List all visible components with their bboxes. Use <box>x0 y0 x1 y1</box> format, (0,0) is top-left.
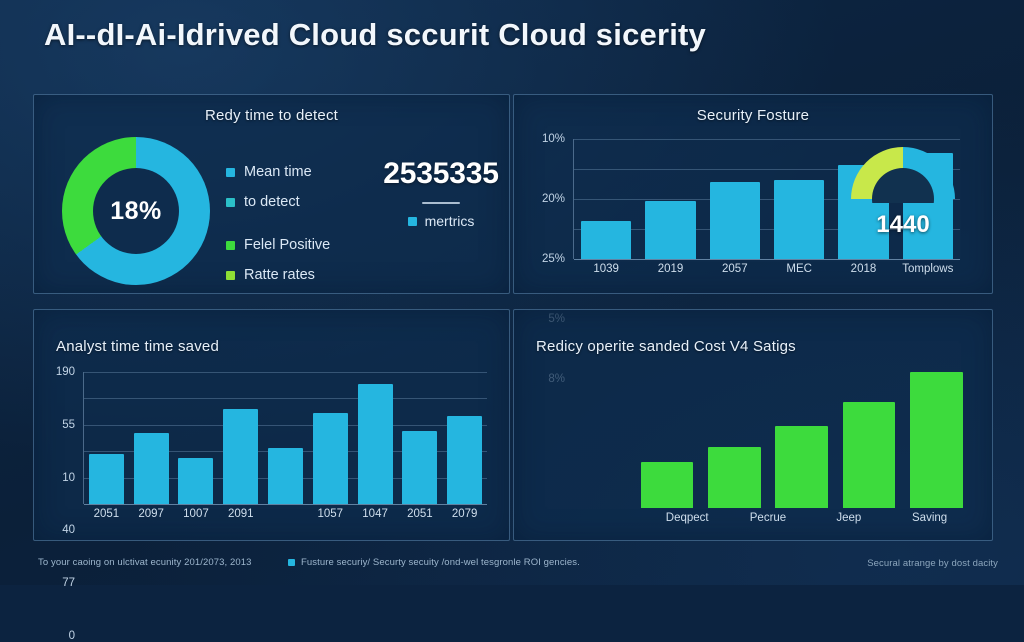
bar[interactable] <box>313 413 348 504</box>
x-tick-label: Jeep <box>808 512 889 524</box>
bar[interactable] <box>178 458 213 504</box>
bar[interactable] <box>268 448 303 504</box>
bar-series <box>566 372 970 508</box>
bar-slot <box>263 372 308 504</box>
x-tick-label: 2018 <box>831 263 895 275</box>
footer: To your caoing on ulctivat ecunity 201/2… <box>0 557 1024 573</box>
x-tick-label: Tomplows <box>896 263 960 275</box>
donut-center-value: 18% <box>110 197 162 226</box>
x-axis-ticks: DeqpectPecrueJeepSaving <box>566 512 970 524</box>
panel-title-analyst: Analyst time time saved <box>56 338 219 355</box>
panel-title-mttd: Redy time to detect <box>34 107 509 124</box>
bar-slot <box>767 139 831 259</box>
bar-slot <box>638 139 702 259</box>
footnote-left: To your caoing on ulctivat ecunity 201/2… <box>38 557 252 568</box>
legend-swatch-icon <box>226 271 235 280</box>
bar-slot <box>633 372 700 508</box>
x-axis-ticks: 20512097100720911057104720512079 <box>84 508 487 520</box>
legend-item[interactable]: Ratte rates <box>226 260 366 290</box>
bar-slot <box>218 372 263 504</box>
bar-series <box>84 372 487 504</box>
gridline: 0 <box>84 504 487 505</box>
bar-slot <box>174 372 219 504</box>
legend-item[interactable]: Mean time <box>226 157 366 187</box>
x-tick-label: 2079 <box>442 508 487 520</box>
x-tick-label: 1057 <box>308 508 353 520</box>
y-tick-label: 10 <box>62 472 75 484</box>
bar-chart-security-posture[interactable]: 10%20%25%5%8% <box>574 139 960 259</box>
bar[interactable] <box>910 372 963 508</box>
bar-slot <box>768 372 835 508</box>
bar-slot <box>701 372 768 508</box>
bar[interactable] <box>358 384 393 504</box>
y-tick-label: 40 <box>62 524 75 536</box>
legend-item-label: Mean time <box>244 164 312 180</box>
legend-spacer <box>226 217 366 230</box>
panel-title-posture: Security Fosture <box>514 107 992 124</box>
bar[interactable] <box>843 402 896 508</box>
bar-slot <box>574 139 638 259</box>
legend-item[interactable]: Felel Positive <box>226 230 366 260</box>
bar-chart-analyst-time-saved[interactable]: 190551040770 <box>84 372 487 504</box>
x-tick-label <box>263 508 308 520</box>
metric-caption-row: mertrics <box>376 213 506 229</box>
bar[interactable] <box>645 201 695 259</box>
bar-slot <box>896 139 960 259</box>
y-tick-label: 10% <box>542 133 565 145</box>
bar-slot <box>84 372 129 504</box>
legend-item-label: Felel Positive <box>244 237 330 253</box>
bar-slot <box>442 372 487 504</box>
panel-cost-savings: Redicy operite sanded Cost V4 Satigs Deq… <box>513 309 993 541</box>
legend-item[interactable]: to detect <box>226 187 366 217</box>
legend-swatch-icon <box>226 241 235 250</box>
dashboard-root: AI--dI-Ai-Idrived Cloud sccurit Cloud si… <box>0 0 1024 585</box>
x-tick-label: Saving <box>889 512 970 524</box>
x-tick-label: 2051 <box>84 508 129 520</box>
x-tick-label: 2057 <box>703 263 767 275</box>
legend-swatch-icon <box>226 198 235 207</box>
bar-slot <box>903 372 970 508</box>
y-tick-label: 0 <box>69 630 75 642</box>
x-tick-label: 2097 <box>129 508 174 520</box>
bar[interactable] <box>641 462 694 508</box>
panel-security-posture: Security Fosture 10%20%25%5%8% 103920192… <box>513 94 993 294</box>
metric-divider <box>422 202 460 204</box>
panel-analyst-time-saved: Analyst time time saved 190551040770 205… <box>33 309 510 541</box>
x-tick-label: 2091 <box>218 508 263 520</box>
gridline: 8% <box>574 259 960 260</box>
bar-slot <box>703 139 767 259</box>
y-tick-label: 20% <box>542 193 565 205</box>
page-title: AI--dI-Ai-Idrived Cloud sccurit Cloud si… <box>44 17 706 53</box>
bar[interactable] <box>775 426 828 508</box>
metric-swatch-icon <box>408 217 417 226</box>
legend-item-label: Ratte rates <box>244 267 315 283</box>
footnote-middle: Fusture securiy/ Securty secuity /ond-we… <box>288 557 580 568</box>
footnote-middle-label: Fusture securiy/ Securty secuity /ond-we… <box>301 557 580 568</box>
bar-series <box>574 139 960 259</box>
x-tick-label: 2051 <box>397 508 442 520</box>
panel-title-cost: Redicy operite sanded Cost V4 Satigs <box>536 338 796 355</box>
panel-mean-time-to-detect: Redy time to detect 18% Mean time to det… <box>33 94 510 294</box>
bar[interactable] <box>89 454 124 504</box>
metric-caption: mertrics <box>425 213 475 229</box>
donut-chart-mttd[interactable]: 18% <box>62 137 210 285</box>
footnote-swatch-icon <box>288 559 295 566</box>
bar[interactable] <box>402 431 437 504</box>
bar[interactable] <box>903 153 953 259</box>
bar-slot <box>353 372 398 504</box>
bar-slot <box>835 372 902 508</box>
x-tick-label: Pecrue <box>728 512 809 524</box>
donut-center: 18% <box>93 168 179 254</box>
metric-block-mttd: 2535335 mertrics <box>376 157 506 229</box>
y-tick-label: 25% <box>542 253 565 265</box>
bar[interactable] <box>134 433 169 504</box>
bar-slot <box>831 139 895 259</box>
legend-mttd: Mean time to detect Felel Positive Ratte… <box>226 157 366 290</box>
x-tick-label: MEC <box>767 263 831 275</box>
legend-item-label: to detect <box>244 194 300 210</box>
metric-value: 2535335 <box>376 157 506 191</box>
footnote-right: Secural atrange by dost dacity <box>867 558 998 569</box>
bar[interactable] <box>447 416 482 504</box>
bar[interactable] <box>710 182 760 259</box>
gauge-value: 1440 <box>851 211 955 239</box>
bar[interactable] <box>581 221 631 259</box>
x-tick-label: 1047 <box>353 508 398 520</box>
x-tick-label: 2019 <box>638 263 702 275</box>
y-tick-label: 55 <box>62 419 75 431</box>
bar[interactable] <box>708 447 761 508</box>
bar[interactable] <box>223 409 258 504</box>
y-tick-label: 190 <box>56 366 75 378</box>
x-tick-label: 1039 <box>574 263 638 275</box>
legend-swatch-icon <box>226 168 235 177</box>
bar[interactable] <box>774 180 824 259</box>
bar-slot <box>308 372 353 504</box>
bar-slot <box>397 372 442 504</box>
bar-slot <box>129 372 174 504</box>
x-tick-label: Deqpect <box>647 512 728 524</box>
bar-slot <box>566 372 633 508</box>
y-tick-label: 77 <box>62 577 75 589</box>
x-axis-ticks: 103920192057MEC2018Tomplows <box>574 263 960 275</box>
x-tick-label <box>566 512 647 524</box>
bar-chart-cost-savings[interactable] <box>566 372 970 508</box>
x-tick-label: 1007 <box>174 508 219 520</box>
